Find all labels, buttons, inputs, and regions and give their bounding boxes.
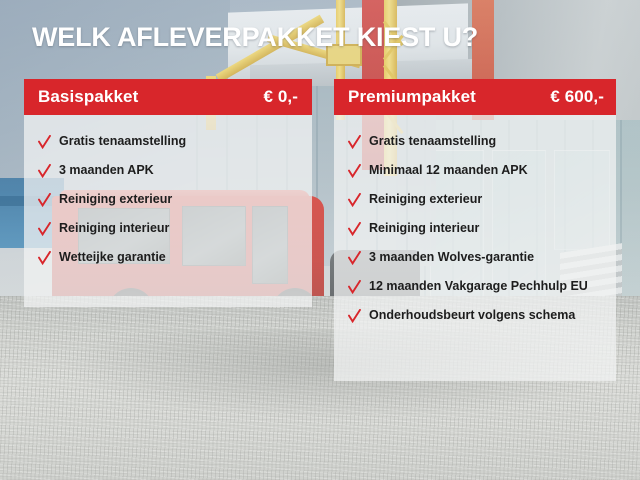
feature-label: Wetteijke garantie [59, 250, 166, 264]
checkmark-icon [38, 193, 51, 207]
checkmark-icon [38, 164, 51, 178]
feature-label: Reiniging exterieur [369, 192, 482, 206]
package-price: € 0,- [263, 87, 298, 107]
feature-item: 3 maanden APK [36, 156, 302, 185]
feature-label: 3 maanden Wolves-garantie [369, 250, 534, 264]
feature-item: 3 maanden Wolves-garantie [346, 243, 606, 272]
feature-item: Gratis tenaamstelling [346, 127, 606, 156]
checkmark-icon [348, 164, 361, 178]
feature-item: Reiniging exterieur [36, 185, 302, 214]
feature-item: Reiniging interieur [36, 214, 302, 243]
feature-label: Gratis tenaamstelling [59, 134, 186, 148]
package-header-basispakket: Basispakket € 0,- [24, 79, 312, 115]
page-title: WELK AFLEVERPAKKET KIEST U? [32, 22, 478, 53]
package-feature-list-basispakket: Gratis tenaamstelling 3 maanden APK Rein… [24, 115, 312, 307]
package-name: Basispakket [38, 87, 138, 107]
feature-item: Gratis tenaamstelling [36, 127, 302, 156]
feature-label: Gratis tenaamstelling [369, 134, 496, 148]
checkmark-icon [348, 222, 361, 236]
checkmark-icon [348, 309, 361, 323]
feature-label: Reiniging exterieur [59, 192, 172, 206]
feature-item: Onderhoudsbeurt volgens schema [346, 301, 606, 330]
checkmark-icon [38, 135, 51, 149]
slide-content: WELK AFLEVERPAKKET KIEST U? Basispakket … [0, 0, 640, 480]
feature-item: Minimaal 12 maanden APK [346, 156, 606, 185]
package-card-basispakket[interactable]: Basispakket € 0,- Gratis tenaamstelling … [24, 79, 312, 307]
package-name: Premiumpakket [348, 87, 476, 107]
checkmark-icon [348, 280, 361, 294]
feature-label: Onderhoudsbeurt volgens schema [369, 308, 575, 322]
feature-label: Reiniging interieur [369, 221, 479, 235]
checkmark-icon [348, 193, 361, 207]
checkmark-icon [348, 135, 361, 149]
feature-label: Minimaal 12 maanden APK [369, 163, 528, 177]
feature-label: 3 maanden APK [59, 163, 154, 177]
feature-label: Reiniging interieur [59, 221, 169, 235]
feature-item: 12 maanden Vakgarage Pechhulp EU [346, 272, 606, 301]
feature-item: Reiniging exterieur [346, 185, 606, 214]
checkmark-icon [38, 251, 51, 265]
package-price: € 600,- [550, 87, 604, 107]
feature-item: Wetteijke garantie [36, 243, 302, 272]
feature-item: Reiniging interieur [346, 214, 606, 243]
checkmark-icon [38, 222, 51, 236]
package-card-premiumpakket[interactable]: Premiumpakket € 600,- Gratis tenaamstell… [334, 79, 616, 381]
package-feature-list-premiumpakket: Gratis tenaamstelling Minimaal 12 maande… [334, 115, 616, 381]
checkmark-icon [348, 251, 361, 265]
package-header-premiumpakket: Premiumpakket € 600,- [334, 79, 616, 115]
feature-label: 12 maanden Vakgarage Pechhulp EU [369, 279, 588, 293]
